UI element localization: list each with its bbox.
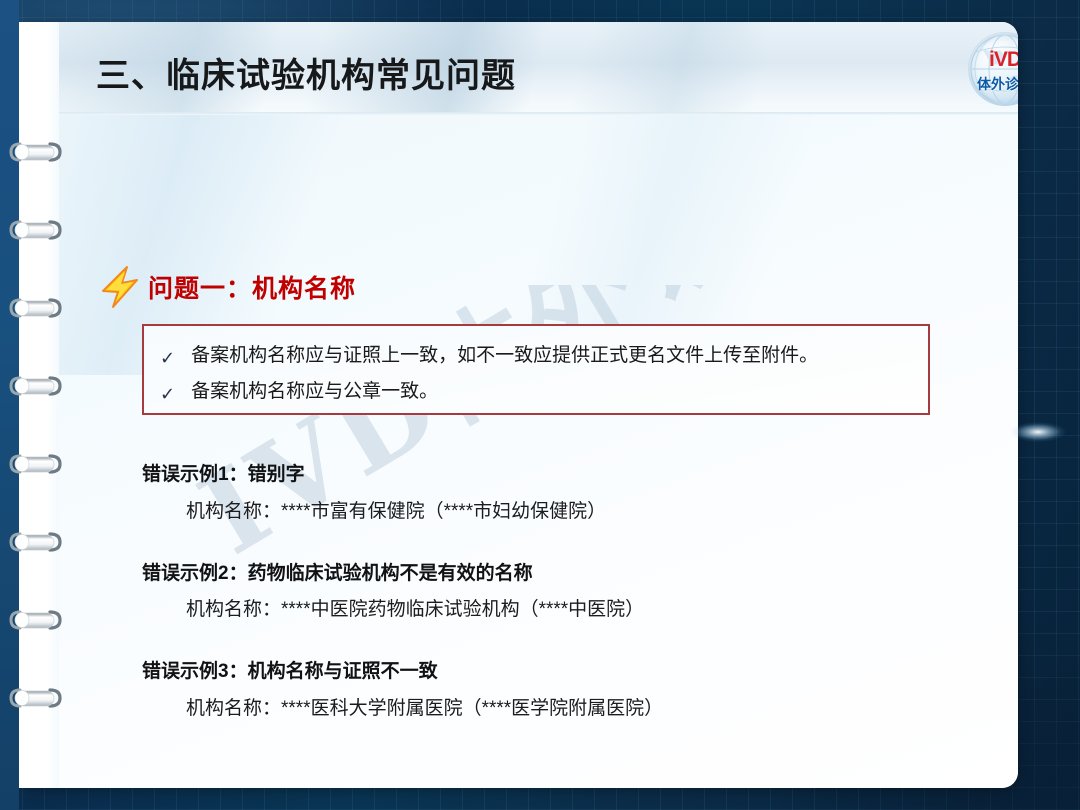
check-icon: ✓ xyxy=(160,346,175,367)
example-title: 错误示例3：机构名称与证照不一致 xyxy=(142,660,942,684)
spiral-ring-icon xyxy=(6,216,68,244)
rule-item: ✓ 备案机构名称应与证照上一致，如不一致应提供正式更名文件上传至附件。 xyxy=(160,346,818,367)
rules-box: ✓ 备案机构名称应与证照上一致，如不一致应提供正式更名文件上传至附件。 ✓ 备案… xyxy=(142,324,930,415)
example-detail: 机构名称：****市富有保健院（****市妇幼保健院） xyxy=(186,500,942,524)
check-icon: ✓ xyxy=(160,382,175,403)
slide-card: 三、临床试验机构常见问题 iVD 体外诊断 xyxy=(18,22,1018,788)
example-detail: 机构名称：****中医院药物临床试验机构（****中医院） xyxy=(186,598,942,622)
spiral-ring-icon xyxy=(6,606,68,634)
rule-text: 备案机构名称应与证照上一致，如不一致应提供正式更名文件上传至附件。 xyxy=(191,346,818,367)
logo-subtitle: 体外诊断 xyxy=(968,74,1018,94)
slide-canvas: 三、临床试验机构常见问题 iVD 体外诊断 xyxy=(0,0,1080,810)
example-detail: 机构名称：****医科大学附属医院（****医学院附属医院） xyxy=(186,697,942,721)
example-title: 错误示例2：药物临床试验机构不是有效的名称 xyxy=(142,562,942,586)
spiral-ring-icon xyxy=(6,138,68,166)
slide-body: IVD体外诊断 问题一：机构名称 ✓ 备案机构名称应与证照上一致，如不一致应提供… xyxy=(18,115,1018,788)
spiral-ring-icon xyxy=(6,684,68,712)
ivd-logo: iVD 体外诊断 xyxy=(968,32,1018,106)
example-item: 错误示例3：机构名称与证照不一致 机构名称：****医科大学附属医院（****医… xyxy=(142,660,942,721)
question-heading: 问题一：机构名称 xyxy=(100,265,356,309)
example-title: 错误示例1：错别字 xyxy=(142,463,942,487)
logo-mark: iVD xyxy=(968,48,1018,72)
spiral-ring-icon xyxy=(6,372,68,400)
spiral-ring-icon xyxy=(6,528,68,556)
spiral-ring-icon xyxy=(6,450,68,478)
rule-item: ✓ 备案机构名称应与公章一致。 xyxy=(160,382,438,403)
example-item: 错误示例2：药物临床试验机构不是有效的名称 机构名称：****中医院药物临床试验… xyxy=(142,562,942,623)
lightning-bolt-icon xyxy=(100,265,140,309)
page-title: 三、临床试验机构常见问题 xyxy=(96,48,516,97)
spiral-ring-icon xyxy=(6,294,68,322)
spiral-binding xyxy=(0,0,78,810)
slide-header: 三、临床试验机构常见问题 iVD 体外诊断 xyxy=(18,22,1018,113)
example-item: 错误示例1：错别字 机构名称：****市富有保健院（****市妇幼保健院） xyxy=(142,463,942,524)
rule-text: 备案机构名称应与公章一致。 xyxy=(191,382,438,403)
question-title: 问题一：机构名称 xyxy=(148,269,356,305)
binding-paper-strip xyxy=(19,22,59,788)
error-examples-list: 错误示例1：错别字 机构名称：****市富有保健院（****市妇幼保健院） 错误… xyxy=(142,463,942,759)
